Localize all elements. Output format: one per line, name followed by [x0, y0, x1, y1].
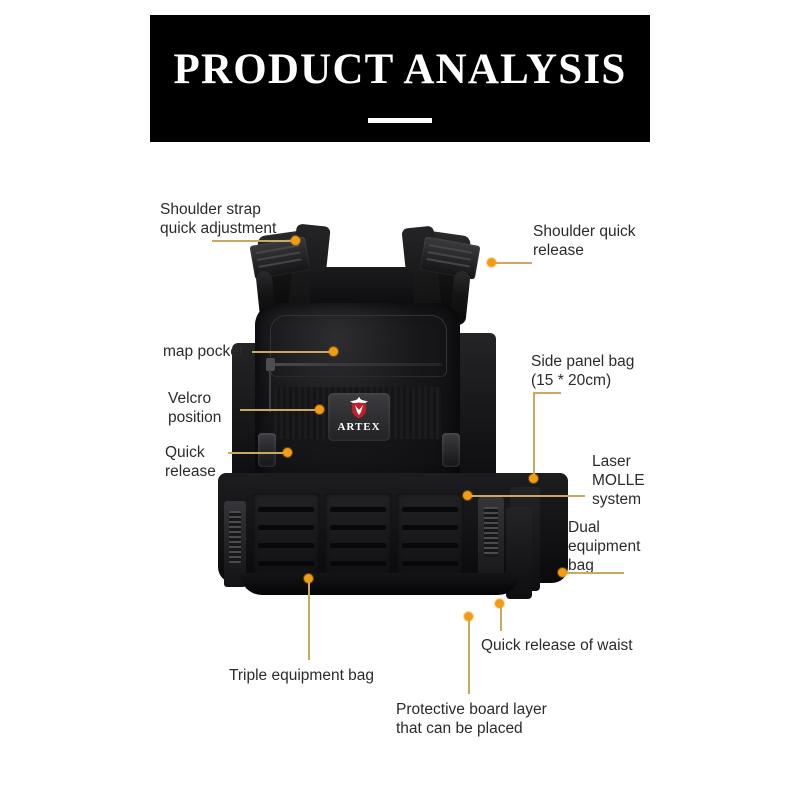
- callout-dot-quick-release: [283, 448, 292, 457]
- leader-line-protective-board-layer: [468, 620, 470, 694]
- leader-line-side-panel-bag-horizontal: [533, 392, 561, 394]
- map-pocket-zipper: [272, 363, 442, 366]
- leader-line-quick-release-of-waist: [500, 607, 502, 631]
- callout-label-quick-release-of-waist: Quick release of waist: [481, 636, 701, 655]
- callout-label-dual-equipment-bag: Dual equipment bag: [568, 518, 678, 575]
- right-quick-release-buckle: [442, 433, 460, 467]
- callout-dot-dual-equipment-bag: [558, 568, 567, 577]
- callout-label-laser-molle-system: Laser MOLLE system: [592, 452, 702, 509]
- callout-label-shoulder-strap-quick-adjustment: Shoulder strap quick adjustment: [160, 200, 350, 238]
- brand-patch: ARTEX: [328, 393, 390, 441]
- callout-dot-quick-release-of-waist: [495, 599, 504, 608]
- infographic-page: PRODUCT ANALYSIS: [0, 0, 800, 800]
- callout-label-velcro-position: Velcro position: [168, 389, 278, 427]
- callout-label-protective-board-layer: Protective board layer that can be place…: [396, 700, 626, 738]
- eagle-crest-icon: [349, 397, 369, 419]
- callout-label-side-panel-bag: Side panel bag (15 * 20cm): [531, 352, 701, 390]
- molle-pouch-right: [396, 493, 464, 581]
- title-banner: PRODUCT ANALYSIS: [150, 15, 650, 142]
- leader-line-side-panel-bag-vertical: [533, 392, 535, 478]
- protective-board-edge: [240, 573, 520, 595]
- callout-dot-velcro-position: [315, 405, 324, 414]
- leader-line-laser-molle-system: [470, 495, 585, 497]
- brand-patch-text: ARTEX: [328, 421, 390, 433]
- callout-dot-shoulder-strap-quick-adjustment: [291, 236, 300, 245]
- callout-dot-triple-equipment-bag: [304, 574, 313, 583]
- callout-dot-shoulder-quick-release: [487, 258, 496, 267]
- leader-line-shoulder-quick-release: [492, 262, 532, 264]
- page-title: PRODUCT ANALYSIS: [150, 48, 650, 91]
- leader-line-map-pocket: [252, 351, 331, 353]
- molle-pouch-center: [324, 493, 392, 581]
- callout-dot-map-pocket: [329, 347, 338, 356]
- callout-label-quick-release: Quick release: [165, 443, 275, 481]
- chest-upper-seam: [270, 315, 447, 377]
- leader-line-triple-equipment-bag: [308, 582, 310, 660]
- leader-line-dual-equipment-bag: [566, 572, 624, 574]
- leader-line-velcro-position: [240, 409, 318, 411]
- title-underline-rule: [368, 118, 432, 123]
- callout-dot-laser-molle-system: [463, 491, 472, 500]
- callout-dot-protective-board-layer: [464, 612, 473, 621]
- callout-label-shoulder-quick-release: Shoulder quick release: [533, 222, 713, 260]
- callout-dot-side-panel-bag: [529, 474, 538, 483]
- molle-pouch-left: [252, 493, 320, 581]
- leader-line-quick-release: [228, 452, 285, 454]
- callout-label-triple-equipment-bag: Triple equipment bag: [229, 666, 429, 685]
- leader-line-shoulder-strap-quick-adjustment: [212, 240, 296, 242]
